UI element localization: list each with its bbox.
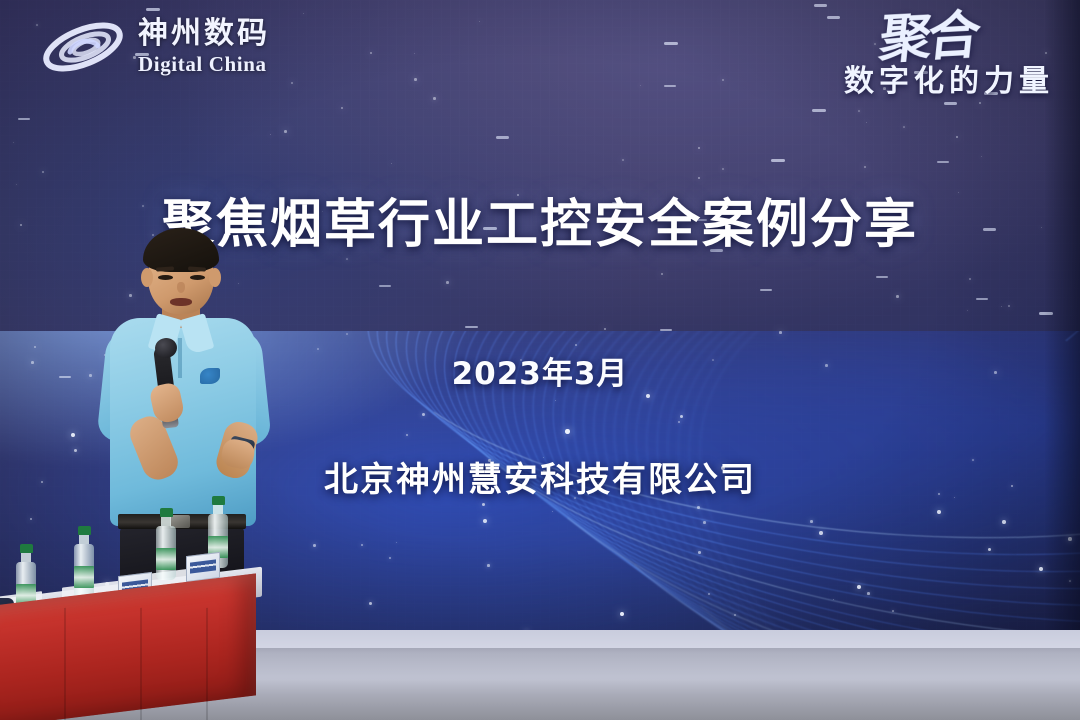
- sparkle-dot: [1002, 520, 1006, 524]
- sparkle-dot: [734, 614, 736, 616]
- tablecloth-fold: [140, 608, 142, 720]
- sparkle-dot: [446, 281, 449, 284]
- sparkle-dot: [703, 521, 706, 524]
- presenter-ear-right: [209, 268, 221, 287]
- presenter-hair: [143, 228, 219, 272]
- presenter-eye-left: [158, 275, 173, 280]
- sparkle-dot: [565, 429, 570, 434]
- sparkle-dot: [819, 531, 823, 535]
- sparkle-dot: [708, 593, 710, 595]
- sparkle-dot: [487, 564, 490, 567]
- presenter-nose: [177, 282, 185, 293]
- presenter-shirt-logo: [200, 368, 220, 384]
- sparkle-dash: [146, 8, 160, 11]
- sparkle-dot: [892, 610, 894, 612]
- sparkle-dot: [858, 110, 860, 112]
- bottle-label: [74, 566, 94, 588]
- presenter-shirt-placket: [178, 338, 182, 378]
- sparkle-dot: [698, 551, 701, 554]
- bottle-neck: [21, 553, 31, 562]
- sparkle-dot: [903, 126, 905, 128]
- sparkle-dash: [496, 136, 509, 139]
- tablecloth-fold: [64, 608, 66, 720]
- sparkle-dash: [827, 16, 840, 19]
- sparkle-dot: [896, 295, 899, 298]
- sparkle-dot: [36, 24, 38, 26]
- tablecloth-fold: [206, 608, 208, 720]
- event-theme-logo: 聚合 数字化的力量: [844, 14, 1054, 100]
- sparkle-dot: [622, 159, 624, 161]
- sparkle-dot: [722, 79, 724, 81]
- sparkle-dash: [379, 285, 391, 287]
- sparkle-dash: [814, 4, 827, 7]
- sparkle-dot: [722, 168, 724, 170]
- presenter-mouth: [170, 298, 192, 306]
- presenter-ear-left: [141, 268, 153, 287]
- sparkle-dash: [771, 159, 785, 162]
- sparkle-dot: [42, 171, 44, 173]
- name-card-text-lines: [190, 559, 216, 573]
- conference-photo: 神州数码 Digital China 聚合 数字化的力量 聚焦烟草行业工控安全案…: [0, 0, 1080, 720]
- water-bottle: [156, 508, 176, 580]
- sparkle-dot: [937, 510, 941, 514]
- sparkle-dash: [664, 42, 678, 45]
- sparkle-dash: [937, 161, 949, 163]
- sparkle-dot: [483, 519, 487, 523]
- sparkle-dot: [346, 333, 348, 335]
- sparkle-dot: [414, 78, 417, 81]
- logo-english-text: Digital China: [138, 54, 270, 75]
- spiral-galaxy-icon: [40, 16, 126, 78]
- bottle-neck: [161, 517, 171, 526]
- sparkle-dot: [779, 331, 782, 334]
- digital-china-wordmark: 神州数码 Digital China: [138, 19, 270, 75]
- sparkle-dot: [1008, 305, 1010, 307]
- panel-table: [0, 560, 290, 720]
- bottle-neck: [79, 535, 89, 544]
- water-bottle: [74, 526, 94, 598]
- sparkle-dot: [867, 592, 870, 595]
- sparkle-dot: [291, 82, 293, 84]
- sparkle-dash: [812, 109, 826, 112]
- sparkle-dot: [346, 258, 348, 260]
- bottle-cap: [212, 496, 225, 505]
- sparkle-dot: [433, 97, 436, 100]
- sparkle-dot: [969, 278, 971, 280]
- logo-chinese-text: 神州数码: [138, 19, 270, 49]
- digital-china-logo: 神州数码 Digital China: [40, 16, 270, 78]
- bottle-cap: [160, 508, 173, 517]
- sparkle-dot: [284, 130, 287, 133]
- sparkle-dot: [422, 413, 425, 416]
- presenter-eye-right: [190, 275, 205, 280]
- bottle-cap: [20, 544, 33, 553]
- bottle-cap: [78, 526, 91, 535]
- bottle-label: [156, 548, 176, 570]
- sparkle-dot: [810, 520, 813, 523]
- sparkle-dash: [944, 102, 957, 105]
- sparkle-dot: [697, 506, 700, 509]
- sparkle-dot: [313, 544, 316, 547]
- bottle-neck: [213, 505, 223, 514]
- sparkle-dot: [1039, 567, 1043, 571]
